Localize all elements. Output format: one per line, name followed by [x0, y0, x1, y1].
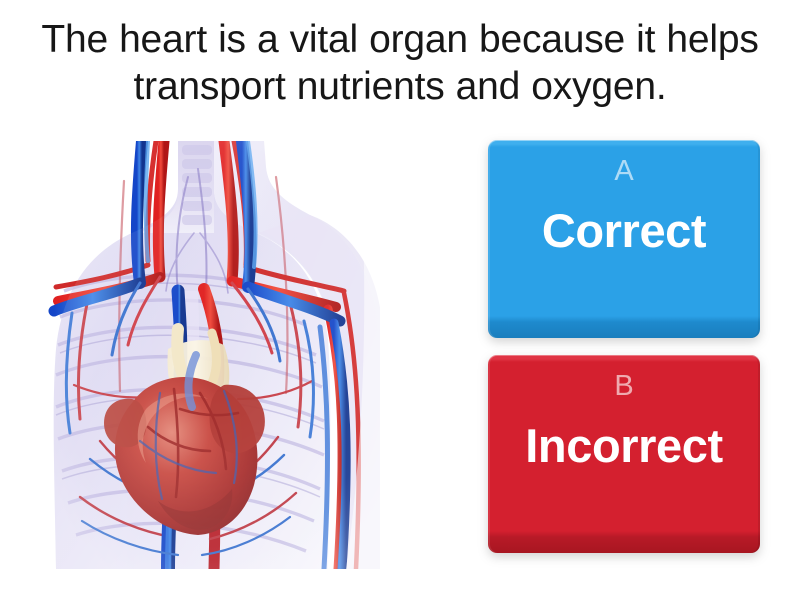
heart-circulatory-system-illustration [28, 141, 440, 569]
question-image-panel [28, 141, 440, 569]
question-text: The heart is a vital organ because it he… [0, 16, 800, 110]
question-area: The heart is a vital organ because it he… [0, 16, 800, 110]
answer-a-label: Correct [542, 206, 706, 255]
quiz-stage: A Correct B Incorrect [0, 128, 800, 588]
answer-b-content: B Incorrect [488, 355, 760, 553]
answer-options: A Correct B Incorrect [488, 140, 764, 580]
answer-option-a[interactable]: A Correct [488, 140, 760, 338]
answer-a-key: A [614, 157, 633, 186]
answer-b-key: B [614, 372, 633, 401]
answer-a-content: A Correct [488, 140, 760, 338]
answer-b-label: Incorrect [525, 421, 723, 470]
answer-option-b[interactable]: B Incorrect [488, 355, 760, 553]
